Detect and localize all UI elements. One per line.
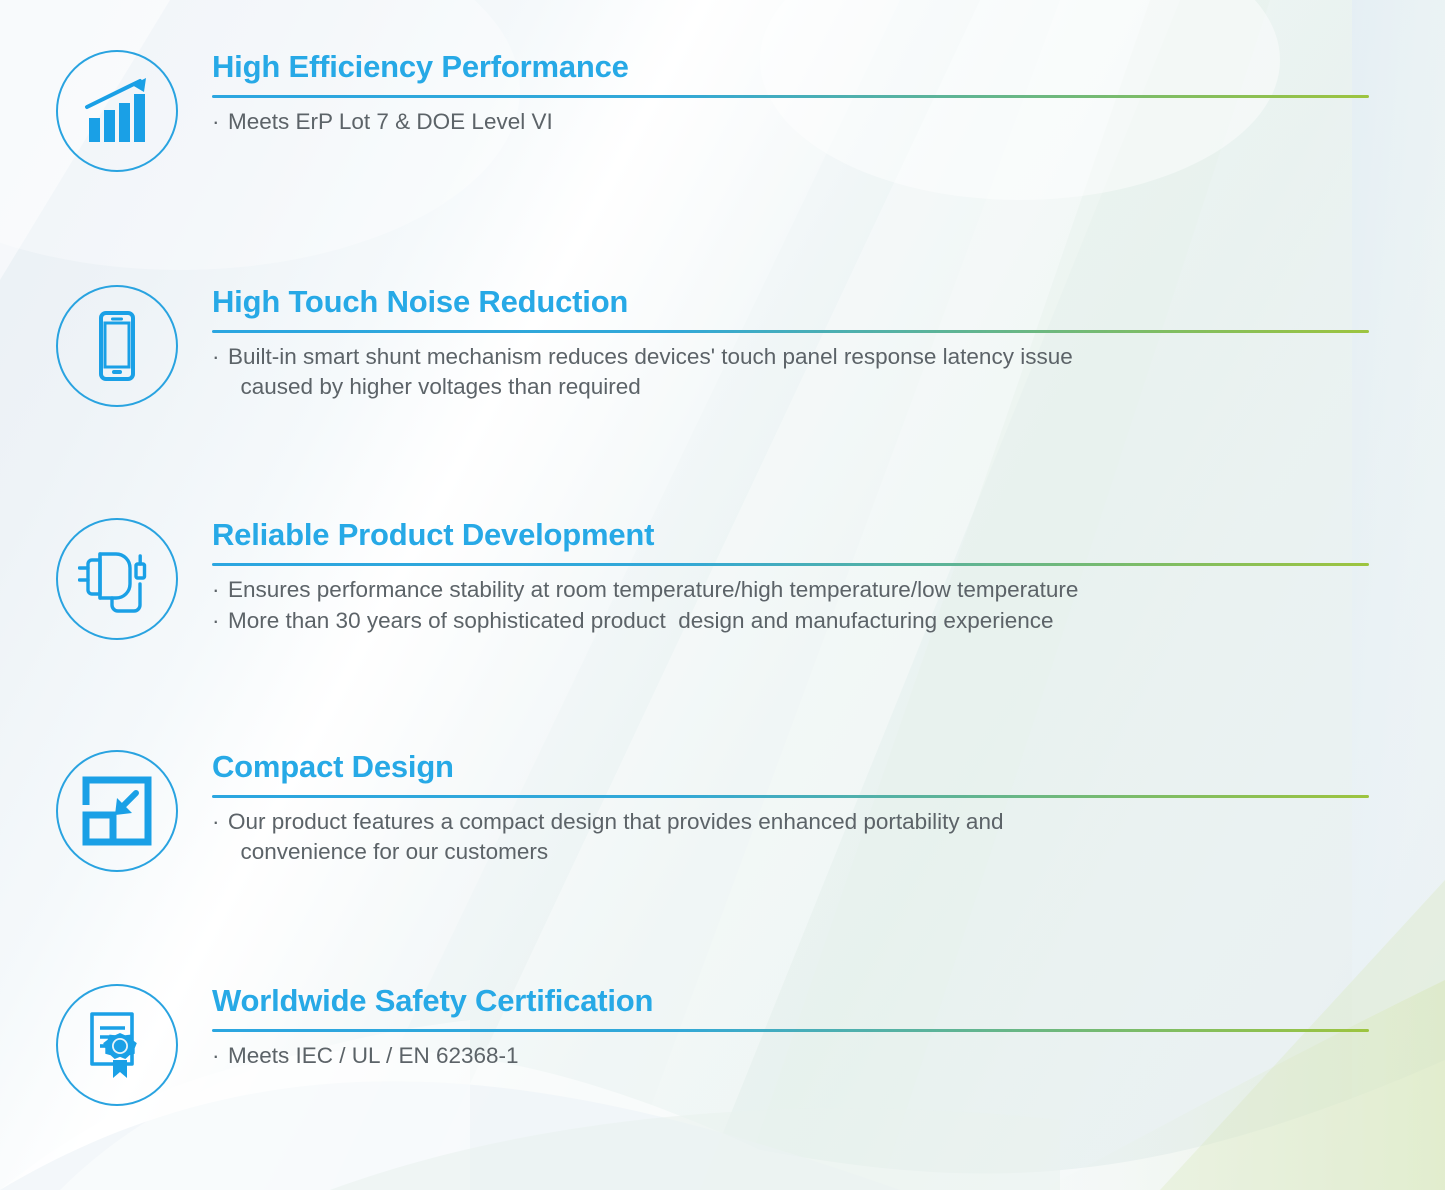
bullet-item: ·Meets ErP Lot 7 & DOE Level VI bbox=[212, 107, 1425, 137]
certificate-seal-icon bbox=[56, 984, 178, 1106]
feature-body: High Touch Noise Reduction ·Built-in sma… bbox=[182, 285, 1445, 403]
feature-item: High Efficiency Performance ·Meets ErP L… bbox=[0, 50, 1445, 172]
feature-body: High Efficiency Performance ·Meets ErP L… bbox=[182, 50, 1445, 138]
bullet-marker: · bbox=[212, 342, 220, 372]
bullet-item: ·Ensures performance stability at room t… bbox=[212, 575, 1425, 605]
feature-bullets: ·Meets ErP Lot 7 & DOE Level VI bbox=[212, 107, 1425, 137]
bar-chart-growth-icon bbox=[56, 50, 178, 172]
bullet-marker: · bbox=[212, 107, 220, 137]
title-divider bbox=[212, 563, 1369, 566]
feature-bullets: ·Our product features a compact design t… bbox=[212, 807, 1425, 868]
bullet-marker: · bbox=[212, 575, 220, 605]
feature-item: Reliable Product Development ·Ensures pe… bbox=[0, 518, 1445, 640]
power-adapter-icon bbox=[56, 518, 178, 640]
bullet-text: Built-in smart shunt mechanism reduces d… bbox=[228, 344, 1073, 399]
feature-icon-wrap bbox=[52, 518, 182, 640]
bullet-text: Meets IEC / UL / EN 62368-1 bbox=[228, 1043, 519, 1068]
bullet-marker: · bbox=[212, 1041, 220, 1071]
feature-body: Worldwide Safety Certification ·Meets IE… bbox=[182, 984, 1445, 1072]
title-divider bbox=[212, 330, 1369, 333]
feature-bullets: ·Built-in smart shunt mechanism reduces … bbox=[212, 342, 1425, 403]
title-divider bbox=[212, 795, 1369, 798]
bullet-text: Ensures performance stability at room te… bbox=[228, 577, 1078, 602]
feature-bullets: ·Meets IEC / UL / EN 62368-1 bbox=[212, 1041, 1425, 1071]
feature-icon-wrap bbox=[52, 285, 182, 407]
feature-icon-wrap bbox=[52, 750, 182, 872]
feature-title: Worldwide Safety Certification bbox=[212, 984, 1425, 1018]
bullet-item: ·More than 30 years of sophisticated pro… bbox=[212, 606, 1425, 636]
title-divider bbox=[212, 1029, 1369, 1032]
feature-item: High Touch Noise Reduction ·Built-in sma… bbox=[0, 285, 1445, 407]
bullet-marker: · bbox=[212, 606, 220, 636]
feature-item: Worldwide Safety Certification ·Meets IE… bbox=[0, 984, 1445, 1106]
feature-icon-wrap bbox=[52, 984, 182, 1106]
smartphone-icon bbox=[56, 285, 178, 407]
bullet-item: ·Our product features a compact design t… bbox=[212, 807, 1425, 868]
feature-item: Compact Design ·Our product features a c… bbox=[0, 750, 1445, 872]
feature-body: Compact Design ·Our product features a c… bbox=[182, 750, 1445, 868]
bullet-item: ·Built-in smart shunt mechanism reduces … bbox=[212, 342, 1425, 403]
feature-bullets: ·Ensures performance stability at room t… bbox=[212, 575, 1425, 637]
feature-title: High Touch Noise Reduction bbox=[212, 285, 1425, 319]
feature-icon-wrap bbox=[52, 50, 182, 172]
feature-highlights-page: High Efficiency Performance ·Meets ErP L… bbox=[0, 0, 1445, 1190]
feature-title: Reliable Product Development bbox=[212, 518, 1425, 552]
title-divider bbox=[212, 95, 1369, 98]
compact-resize-icon bbox=[56, 750, 178, 872]
bullet-text: Meets ErP Lot 7 & DOE Level VI bbox=[228, 109, 553, 134]
bullet-text: Our product features a compact design th… bbox=[228, 809, 1003, 864]
bullet-text: More than 30 years of sophisticated prod… bbox=[228, 608, 1054, 633]
feature-title: High Efficiency Performance bbox=[212, 50, 1425, 84]
feature-title: Compact Design bbox=[212, 750, 1425, 784]
bullet-marker: · bbox=[212, 807, 220, 837]
bullet-item: ·Meets IEC / UL / EN 62368-1 bbox=[212, 1041, 1425, 1071]
feature-body: Reliable Product Development ·Ensures pe… bbox=[182, 518, 1445, 637]
